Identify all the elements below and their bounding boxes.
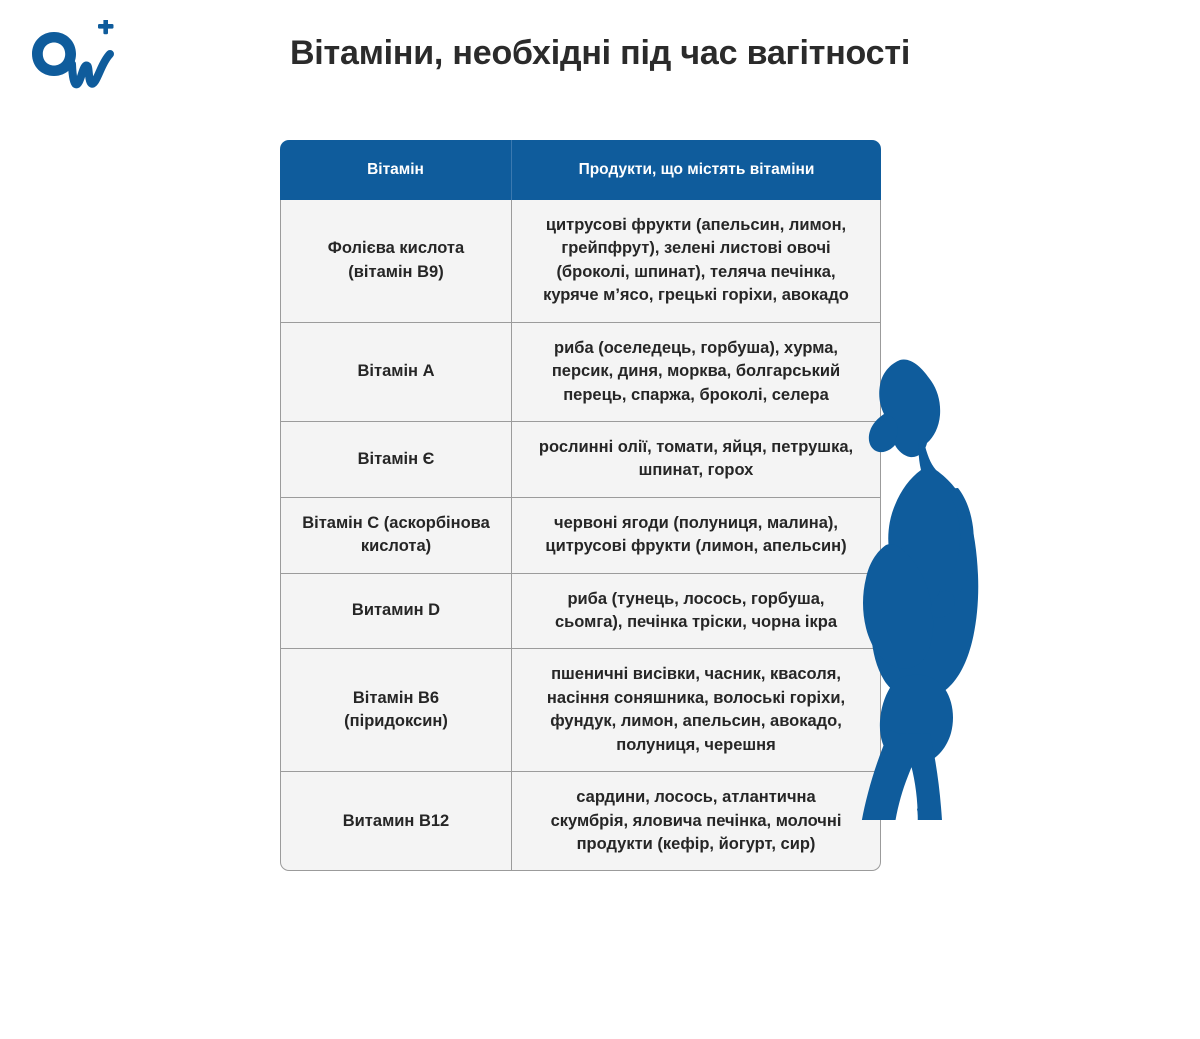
- vitamin-name-line: (вітамін В9): [293, 261, 499, 284]
- column-header-foods: Продукти, що містять вітаміни: [512, 140, 881, 200]
- table-row: Вітамін С (аскорбіновакислота)червоні яг…: [280, 498, 881, 574]
- vitamin-name-line: Вітамін С (аскорбінова: [293, 512, 499, 535]
- vitamin-name-cell: Вітамін С (аскорбіновакислота): [280, 498, 512, 574]
- vitamin-name-cell: Вітамін А: [280, 323, 512, 422]
- food-sources-line: цитрусові фрукти (лимон, апельсин): [524, 535, 868, 558]
- page-title: Вітаміни, необхідні під час вагітності: [0, 34, 1200, 73]
- food-sources-line: куряче м’ясо, грецькі горіхи, авокадо: [524, 284, 868, 307]
- table-row: Вітамін В6(піридоксин)пшеничні висівки, …: [280, 649, 881, 772]
- food-sources-line: сардини, лосось, атлантична: [524, 786, 868, 809]
- table-row: Витамин Dриба (тунець, лосось, горбуша,с…: [280, 574, 881, 650]
- food-sources-line: риба (оселедець, горбуша), хурма,: [524, 337, 868, 360]
- food-sources-line: фундук, лимон, апельсин, авокадо,: [524, 710, 868, 733]
- vitamin-name-cell: Вітамін Є: [280, 422, 512, 498]
- food-sources-line: шпинат, горох: [524, 459, 868, 482]
- vitamin-name-line: Вітамін А: [293, 360, 499, 383]
- food-sources-cell: риба (оселедець, горбуша), хурма,персик,…: [512, 323, 881, 422]
- column-header-vitamin: Вітамін: [280, 140, 512, 200]
- food-sources-line: риба (тунець, лосось, горбуша,: [524, 588, 868, 611]
- food-sources-line: персик, диня, морква, болгарський: [524, 360, 868, 383]
- food-sources-line: грейпфрут), зелені листові овочі: [524, 237, 868, 260]
- vitamin-name-line: Фолієва кислота: [293, 237, 499, 260]
- food-sources-line: насіння соняшника, волоські горіхи,: [524, 687, 868, 710]
- table-row: Витамин В12сардини, лосось, атлантичнаск…: [280, 772, 881, 871]
- food-sources-cell: червоні ягоди (полуниця, малина),цитрусо…: [512, 498, 881, 574]
- vitamin-name-cell: Витамин В12: [280, 772, 512, 871]
- food-sources-cell: риба (тунець, лосось, горбуша,сьомга), п…: [512, 574, 881, 650]
- vitamin-name-cell: Вітамін В6(піридоксин): [280, 649, 512, 772]
- vitamin-name-line: Витамин В12: [293, 810, 499, 833]
- food-sources-line: червоні ягоди (полуниця, малина),: [524, 512, 868, 535]
- vitamin-name-line: Вітамін В6: [293, 687, 499, 710]
- table-row: Вітамін Єрослинні олії, томати, яйця, пе…: [280, 422, 881, 498]
- vitamin-name-line: (піридоксин): [293, 710, 499, 733]
- vitamin-name-cell: Фолієва кислота(вітамін В9): [280, 200, 512, 323]
- food-sources-line: полуниця, черешня: [524, 734, 868, 757]
- vitamin-name-line: кислота): [293, 535, 499, 558]
- food-sources-line: скумбрія, яловича печінка, молочні: [524, 810, 868, 833]
- table-row: Вітамін Ариба (оселедець, горбуша), хурм…: [280, 323, 881, 422]
- food-sources-line: (броколі, шпинат), теляча печінка,: [524, 261, 868, 284]
- vitamin-name-cell: Витамин D: [280, 574, 512, 650]
- food-sources-line: перець, спаржа, броколі, селера: [524, 384, 868, 407]
- vitamin-table: Вітамін Продукти, що містять вітаміни Фо…: [280, 140, 881, 871]
- vitamin-name-line: Вітамін Є: [293, 448, 499, 471]
- vitamin-table-container: Вітамін Продукти, що містять вітаміни Фо…: [280, 140, 881, 871]
- food-sources-cell: рослинні олії, томати, яйця, петрушка,шп…: [512, 422, 881, 498]
- infographic-page: Вітаміни, необхідні під час вагітності: [0, 0, 1200, 1039]
- food-sources-line: пшеничні висівки, часник, квасоля,: [524, 663, 868, 686]
- food-sources-cell: цитрусові фрукти (апельсин, лимон,грейпф…: [512, 200, 881, 323]
- food-sources-cell: сардини, лосось, атлантичнаскумбрія, яло…: [512, 772, 881, 871]
- vitamin-name-line: Витамин D: [293, 599, 499, 622]
- table-header-row: Вітамін Продукти, що містять вітаміни: [280, 140, 881, 200]
- table-head: Вітамін Продукти, що містять вітаміни: [280, 140, 881, 200]
- food-sources-line: цитрусові фрукти (апельсин, лимон,: [524, 214, 868, 237]
- food-sources-line: продукти (кефір, йогурт, сир): [524, 833, 868, 856]
- food-sources-line: сьомга), печінка тріски, чорна ікра: [524, 611, 868, 634]
- table-body: Фолієва кислота(вітамін В9)цитрусові фру…: [280, 200, 881, 871]
- table-row: Фолієва кислота(вітамін В9)цитрусові фру…: [280, 200, 881, 323]
- food-sources-line: рослинні олії, томати, яйця, петрушка,: [524, 436, 868, 459]
- food-sources-cell: пшеничні висівки, часник, квасоля,насінн…: [512, 649, 881, 772]
